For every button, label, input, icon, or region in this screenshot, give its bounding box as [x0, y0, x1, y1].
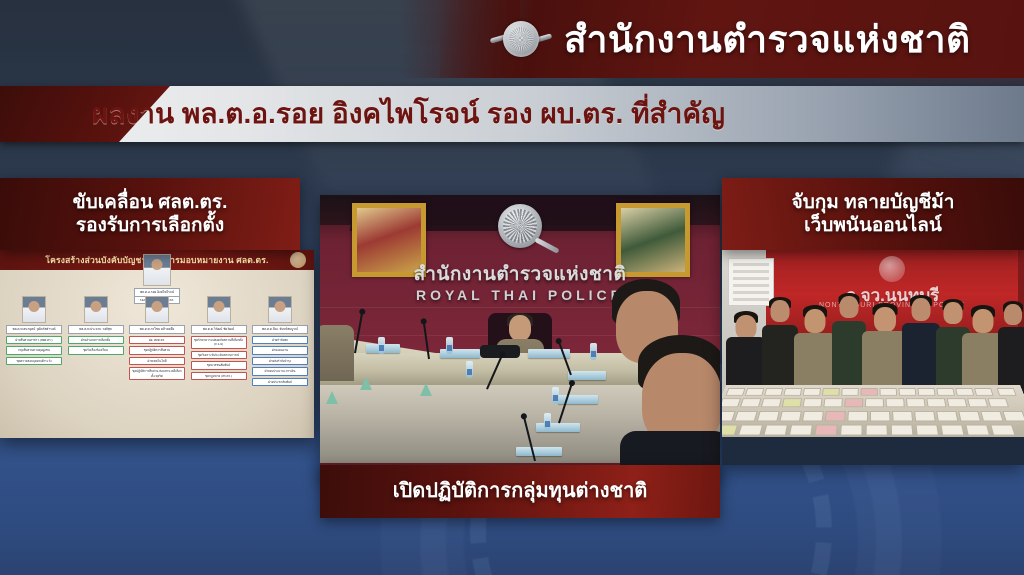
- org-chart-box: กลุ่มสืบสวนควบคุมฝูงชน: [6, 346, 62, 355]
- org-chart-portrait: [143, 254, 171, 286]
- org-chart-box: ฝ่ายประชาสัมพันธ์: [252, 378, 308, 387]
- evidence-table: [722, 385, 1024, 439]
- caption-right-line2: เว็บพนันออนไลน์: [804, 214, 942, 237]
- officer-figure: [794, 305, 836, 397]
- table-cone-marker: [326, 391, 338, 404]
- arrest-photo-shadow: [722, 437, 1024, 465]
- name-plate: [568, 371, 606, 380]
- org-chart-box: ชุดวิเคราะห์ประเมินสถานการณ์: [191, 351, 247, 360]
- org-chart-column: พล.ต.ท.ธนายุตม์ วุฒิจรัสธำรงค์ ฝ่ายสืบสว…: [6, 296, 62, 386]
- org-chart-name: พล.ต.ท.ประจวบ วงศ์สุข: [68, 325, 124, 334]
- org-chart-column: พล.ต.ต.วิวัฒน์ ชัยวัฒน์ ชุดรักษาความปลอด…: [191, 296, 247, 386]
- org-chart-box: ชุดกฎหมาย (สก.ตร.): [191, 372, 247, 381]
- org-chart-box: ฝอ. ศลต.ตร.: [129, 336, 185, 345]
- caption-right: จับกุม ทลายบัญชีม้า เว็บพนันออนไลน์: [722, 178, 1024, 250]
- infographic-canvas: สำนักงานตำรวจแห่งชาติ ผลงาน พล.ต.อ.รอย อ…: [0, 0, 1024, 575]
- officer-left-edge: [320, 325, 354, 381]
- org-chart-box: ฝ่ายงบประมาณ-การเงิน: [252, 367, 308, 376]
- name-plate: [516, 447, 562, 456]
- org-chart-seal-icon: [290, 252, 306, 268]
- org-chart-portrait: [84, 296, 108, 323]
- water-bottle: [446, 337, 453, 354]
- table-cone-marker: [420, 383, 432, 396]
- photo-org-chart: โครงสร้างส่วนบังคับบัญชา และการมอบหมายงา…: [0, 250, 314, 438]
- org-chart-box: ชุดมวลชนสัมพันธ์: [191, 361, 247, 370]
- header-bar: สำนักงานตำรวจแห่งชาติ: [440, 0, 1024, 78]
- water-bottle: [590, 343, 597, 360]
- caption-bottom-line1: เปิดปฏิบัติการกลุ่มทุนต่างชาติ: [393, 479, 648, 503]
- org-chart-name: พล.ต.ต.ปิยะ จันทร์สมบูรณ์: [252, 325, 308, 334]
- photo-arrest-evidence: ภ.จว.นนทบุรี NONTHABURI PROVINCIAL POLIC…: [722, 250, 1024, 465]
- water-bottle: [378, 337, 385, 354]
- subtitle-text: ผลงาน พล.ต.อ.รอย อิงคไพโรจน์ รอง ผบ.ตร. …: [92, 86, 725, 142]
- org-chart-box: ชุดรักษาความปลอดภัยสถานที่เลือกตั้ง (ภ.1…: [191, 336, 247, 349]
- org-chart-portrait: [268, 296, 292, 323]
- org-chart-portrait: [207, 296, 231, 323]
- org-chart-box: ชุดปฏิบัติการสืบสวน: [129, 346, 185, 355]
- org-chart-row: พล.ต.ท.ธนายุตม์ วุฒิจรัสธำรงค์ ฝ่ายสืบสว…: [6, 296, 308, 386]
- org-chart-box: ฝ่ายสืบสวนหาข่าว (สยศ.ตร.): [6, 336, 62, 345]
- caption-left: ขับเคลื่อน ศลต.ตร. รองรับการเลือกตั้ง: [0, 178, 300, 250]
- org-chart-column: พล.ต.ท.กรไชย คล้ายคลึง ฝอ. ศลต.ตร. ชุดปฏ…: [129, 296, 185, 386]
- org-chart-column: พล.ต.ต.ปิยะ จันทร์สมบูรณ์ ฝ่ายกำลังพล ฝ่…: [252, 296, 308, 386]
- caption-bottom: เปิดปฏิบัติการกลุ่มทุนต่างชาติ: [320, 465, 720, 518]
- water-bottle: [466, 361, 473, 378]
- photo-press-conference: สำนักงานตำรวจแห่งชาติ ROYAL THAI POLICE: [320, 195, 720, 480]
- org-chart-box: ฝ่ายแผนงาน: [252, 346, 308, 355]
- caption-left-line2: รองรับการเลือกตั้ง: [76, 214, 224, 237]
- org-chart-box: ฝ่ายเทคโนโลยี: [129, 357, 185, 366]
- org-chart-name: พล.ต.ต.วิวัฒน์ ชัยวัฒน์: [191, 325, 247, 334]
- org-chart-box: ชุดปฏิบัติการสืบสวน สอบสวน คดีเลือกตั้ง-…: [129, 367, 185, 380]
- caption-right-line1: จับกุม ทลายบัญชีม้า: [792, 191, 955, 214]
- water-bottle: [544, 413, 551, 430]
- water-bottle: [552, 387, 559, 404]
- officer-figure: [902, 295, 940, 397]
- org-chart-box: ฝ่ายส่งกำลังบำรุง: [252, 357, 308, 366]
- org-chart-portrait: [22, 296, 46, 323]
- org-chart-name: พล.ต.ท.กรไชย คล้ายคลึง: [129, 325, 185, 334]
- org-chart-box: ชุดตรวจสอบบุคคลเฝ้าระวัง: [6, 357, 62, 366]
- org-chart-box: ฝ่ายกำลังพล: [252, 336, 308, 345]
- caption-left-line1: ขับเคลื่อน ศลต.ตร.: [73, 191, 228, 214]
- table-cone-marker: [360, 377, 372, 390]
- banner-seal-icon: [879, 256, 905, 282]
- org-chart-box: ฝ่ายอำนวยการเลือกตั้ง: [68, 336, 124, 345]
- police-badge-emblem-icon: [492, 10, 550, 68]
- officer-figure: [762, 297, 798, 397]
- org-chart-column: พล.ต.ท.ประจวบ วงศ์สุข ฝ่ายอำนวยการเลือกต…: [68, 296, 124, 386]
- name-plate: [536, 423, 580, 432]
- officer-figure: [998, 301, 1024, 397]
- org-chart-box: ชุดรับเรื่องร้องเรียน: [68, 346, 124, 355]
- page-title: สำนักงานตำรวจแห่งชาติ: [564, 21, 971, 58]
- officer-figure: [832, 293, 866, 397]
- org-chart-portrait: [145, 296, 169, 323]
- org-chart-name: พล.ต.ท.ธนายุตม์ วุฒิจรัสธำรงค์: [6, 325, 62, 334]
